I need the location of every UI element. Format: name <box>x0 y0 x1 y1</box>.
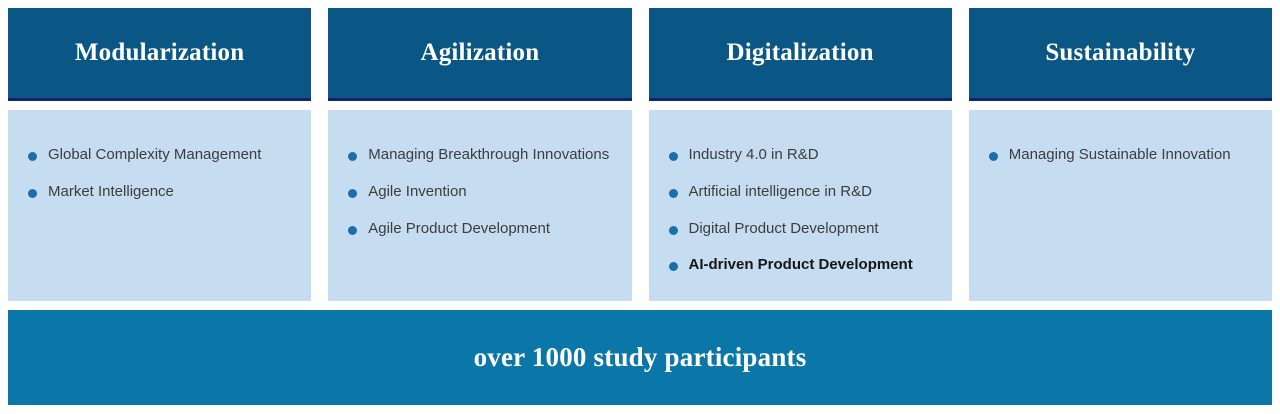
pillar-column-modularization: Modularization Global Complexity Managem… <box>8 8 311 301</box>
research-pillars-board: Modularization Global Complexity Managem… <box>0 0 1280 414</box>
pillar-column-agilization: Agilization Managing Breakthrough Innova… <box>328 8 631 301</box>
list-item: Agile Product Development <box>348 220 621 239</box>
list-item: Agile Invention <box>348 183 621 202</box>
topic-list: Industry 4.0 in R&D Artificial intellige… <box>669 146 942 275</box>
topic-label: Agile Product Development <box>368 220 550 239</box>
list-item-highlighted: AI-driven Product Development <box>669 256 942 275</box>
topic-label: Industry 4.0 in R&D <box>689 146 819 165</box>
pillar-column-digitalization: Digitalization Industry 4.0 in R&D Artif… <box>649 8 952 301</box>
bullet-icon <box>348 226 357 235</box>
pillar-header-agilization: Agilization <box>328 8 631 101</box>
bullet-icon <box>28 189 37 198</box>
bullet-icon <box>669 226 678 235</box>
pillar-body-agilization: Managing Breakthrough Innovations Agile … <box>328 110 631 301</box>
pillar-column-sustainability: Sustainability Managing Sustainable Inno… <box>969 8 1272 301</box>
pillar-columns: Modularization Global Complexity Managem… <box>8 8 1272 301</box>
list-item: Digital Product Development <box>669 220 942 239</box>
participants-banner: over 1000 study participants <box>8 310 1272 405</box>
bullet-icon <box>669 152 678 161</box>
pillar-header-sustainability: Sustainability <box>969 8 1272 101</box>
topic-label: Managing Breakthrough Innovations <box>368 146 609 165</box>
pillar-title: Modularization <box>75 39 244 67</box>
topic-label: Global Complexity Management <box>48 146 261 165</box>
pillar-header-digitalization: Digitalization <box>649 8 952 101</box>
pillar-title: Agilization <box>420 39 539 67</box>
pillar-body-sustainability: Managing Sustainable Innovation <box>969 110 1272 301</box>
pillar-header-modularization: Modularization <box>8 8 311 101</box>
topic-list: Managing Breakthrough Innovations Agile … <box>348 146 621 238</box>
pillar-body-digitalization: Industry 4.0 in R&D Artificial intellige… <box>649 110 952 301</box>
list-item: Market Intelligence <box>28 183 301 202</box>
topic-label: Market Intelligence <box>48 183 174 202</box>
topic-label: Managing Sustainable Innovation <box>1009 146 1231 165</box>
list-item: Industry 4.0 in R&D <box>669 146 942 165</box>
topic-list: Global Complexity Management Market Inte… <box>28 146 301 202</box>
topic-label: Digital Product Development <box>689 220 879 239</box>
pillar-title: Digitalization <box>727 39 874 67</box>
bullet-icon <box>989 152 998 161</box>
participants-label: over 1000 study participants <box>474 342 807 373</box>
topic-list: Managing Sustainable Innovation <box>989 146 1262 165</box>
topic-label: Agile Invention <box>368 183 466 202</box>
bullet-icon <box>669 262 678 271</box>
pillar-body-modularization: Global Complexity Management Market Inte… <box>8 110 311 301</box>
bullet-icon <box>28 152 37 161</box>
bullet-icon <box>348 152 357 161</box>
bullet-icon <box>348 189 357 198</box>
list-item: Managing Sustainable Innovation <box>989 146 1262 165</box>
bullet-icon <box>669 189 678 198</box>
list-item: Global Complexity Management <box>28 146 301 165</box>
pillar-title: Sustainability <box>1045 39 1195 67</box>
topic-label: AI-driven Product Development <box>689 256 913 275</box>
list-item: Artificial intelligence in R&D <box>669 183 942 202</box>
topic-label: Artificial intelligence in R&D <box>689 183 872 202</box>
list-item: Managing Breakthrough Innovations <box>348 146 621 165</box>
